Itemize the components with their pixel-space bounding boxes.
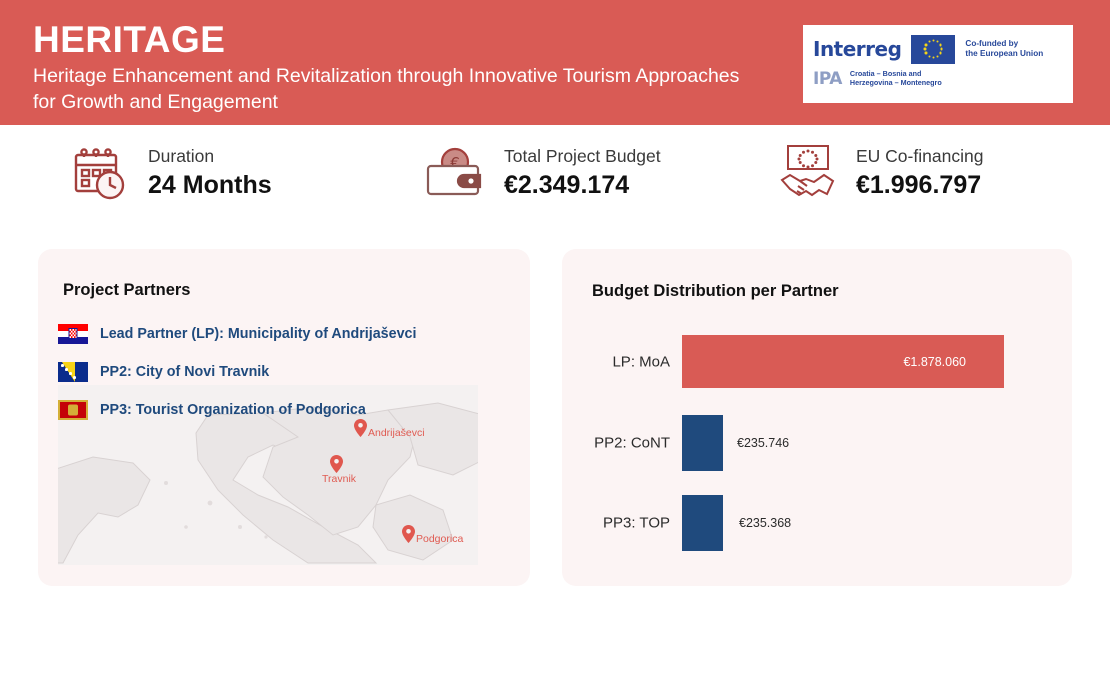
partner-name-lp: Lead Partner (LP): Municipality of Andri… xyxy=(100,326,416,342)
partner-name-pp3: PP3: Tourist Organization of Podgorica xyxy=(100,402,366,418)
bar-value-label: €1.878.060 xyxy=(903,355,966,369)
map-pin-icon xyxy=(402,525,415,543)
project-partners-title: Project Partners xyxy=(63,281,190,300)
bar-row-pp3: PP3: TOP €235.368 xyxy=(562,495,1072,551)
ipa-wordmark: IPA xyxy=(813,69,842,89)
kpi-total-budget: € Total Project Budget €2.349.174 xyxy=(424,142,661,204)
map-pin-podgorica: Podgorica xyxy=(402,525,415,543)
budget-chart-panel: Budget Distribution per Partner LP: MoA … xyxy=(562,249,1072,586)
map-pin-travnik: Travnik xyxy=(330,455,343,473)
eu-handshake-icon xyxy=(776,142,840,204)
kpi-eu-cofinancing: EU Co-financing €1.996.797 xyxy=(776,142,983,204)
bar-pp3[interactable] xyxy=(682,495,723,551)
kpi-duration-text: Duration 24 Months xyxy=(148,145,272,201)
interreg-wordmark: Interreg xyxy=(813,37,901,61)
bar-category-label: PP2: CoNT xyxy=(594,435,670,452)
bar-value-label: €235.368 xyxy=(739,516,791,530)
bar-row-lp: LP: MoA €1.878.060 xyxy=(562,335,1072,388)
page-subtitle: Heritage Enhancement and Revitalization … xyxy=(33,63,753,115)
eu-flag-icon xyxy=(911,35,955,64)
kpi-budget-text: Total Project Budget €2.349.174 xyxy=(504,145,661,201)
cofunded-line-2: the European Union xyxy=(965,49,1043,58)
kpi-duration-value: 24 Months xyxy=(148,169,272,201)
bar-category-box: LP: MoA xyxy=(562,335,670,388)
bar-category-box: PP2: CoNT xyxy=(562,415,670,471)
partner-item-pp3[interactable]: PP3: Tourist Organization of Podgorica xyxy=(58,391,518,429)
kpi-eu-text: EU Co-financing €1.996.797 xyxy=(856,145,983,201)
wallet-euro-icon: € xyxy=(424,142,488,204)
map-pin-icon xyxy=(330,455,343,473)
project-partners-panel: Project Partners Andrijaševci xyxy=(38,249,530,586)
budget-bar-chart: LP: MoA €1.878.060 PP2: CoNT €235.746 PP… xyxy=(562,249,1072,586)
bar-row-pp2: PP2: CoNT €235.746 xyxy=(562,415,1072,471)
bar-category-label: PP3: TOP xyxy=(603,515,670,532)
bosnia-herzegovina-flag-icon xyxy=(58,362,88,382)
partner-list: Lead Partner (LP): Municipality of Andri… xyxy=(58,315,518,429)
interreg-ipa-logo: Interreg Co-funded by the European Union xyxy=(803,25,1073,103)
kpi-eu-value: €1.996.797 xyxy=(856,169,983,201)
kpi-duration-label: Duration xyxy=(148,145,272,167)
bar-value-label: €235.746 xyxy=(737,436,789,450)
bar-category-label: LP: MoA xyxy=(612,353,670,370)
croatia-flag-icon xyxy=(58,324,88,344)
ipa-programme-area: Croatia – Bosnia and Herzegovina – Monte… xyxy=(850,70,942,88)
map-pin-label: Travnik xyxy=(322,473,356,485)
partner-name-pp2: PP2: City of Novi Travnik xyxy=(100,364,269,380)
partner-item-lp[interactable]: Lead Partner (LP): Municipality of Andri… xyxy=(58,315,518,353)
map-pin-label: Podgorica xyxy=(416,533,463,545)
ipa-line-1: Croatia – Bosnia and xyxy=(850,69,922,78)
bar-category-box: PP3: TOP xyxy=(562,495,670,551)
partner-item-pp2[interactable]: PP2: City of Novi Travnik xyxy=(58,353,518,391)
kpi-eu-label: EU Co-financing xyxy=(856,145,983,167)
cofunded-text: Co-funded by the European Union xyxy=(965,39,1043,59)
ipa-line-2: Herzegovina – Montenegro xyxy=(850,78,942,87)
montenegro-flag-icon xyxy=(58,400,88,420)
kpi-duration: Duration 24 Months xyxy=(68,142,272,204)
page-title: HERITAGE xyxy=(33,18,225,62)
bar-lp[interactable]: €1.878.060 xyxy=(682,335,1004,388)
kpi-budget-label: Total Project Budget xyxy=(504,145,661,167)
infographic-page: HERITAGE Heritage Enhancement and Revita… xyxy=(0,0,1110,687)
cofunded-line-1: Co-funded by xyxy=(965,39,1018,48)
kpi-budget-value: €2.349.174 xyxy=(504,169,661,201)
calendar-clock-icon xyxy=(68,142,132,204)
bar-pp2[interactable] xyxy=(682,415,723,471)
page-header: HERITAGE Heritage Enhancement and Revita… xyxy=(0,0,1110,125)
